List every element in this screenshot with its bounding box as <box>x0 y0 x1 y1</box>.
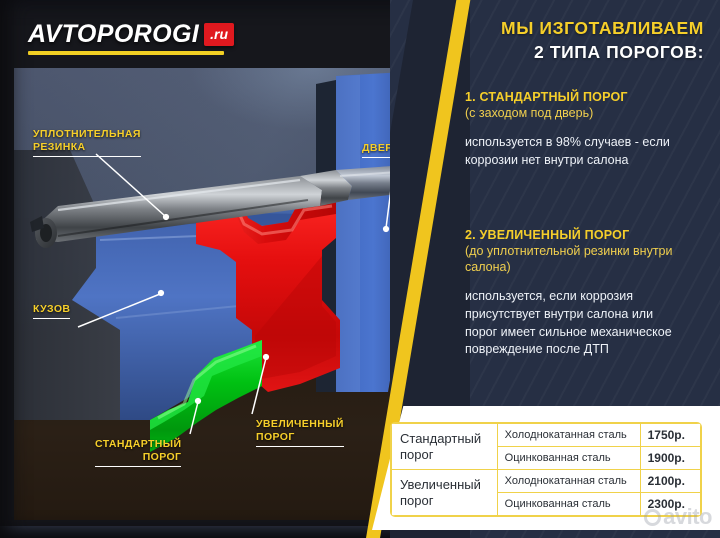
section-standard-body: используется в 98% случаев - если корроз… <box>465 134 680 170</box>
row-price: 2100р. <box>640 470 700 493</box>
callout-increased-line1: УВЕЛИЧЕННЫЙ <box>256 418 344 430</box>
callout-seal-line2: РЕЗИНКА <box>33 141 141 157</box>
callout-increased-sill: УВЕЛИЧЕННЫЙ ПОРОГ <box>256 418 344 447</box>
row-price: 1900р. <box>640 447 700 470</box>
row-material: Оцинкованная сталь <box>497 447 640 470</box>
callout-standard-line2: ПОРОГ <box>95 451 181 467</box>
callout-increased-line2: ПОРОГ <box>256 431 344 447</box>
row-price: 2300р. <box>640 493 700 516</box>
section-standard-title: 1. СТАНДАРТНЫЙ ПОРОГ <box>465 90 680 104</box>
callout-seal: УПЛОТНИТЕЛЬНАЯ РЕЗИНКА <box>33 128 141 157</box>
callout-standard-sill: СТАНДАРТНЫЙ ПОРОГ <box>95 438 181 467</box>
panel-heading: МЫ ИЗГОТАВЛИВАЕМ 2 ТИПА ПОРОГОВ: <box>390 18 704 63</box>
logo-domain-badge: .ru <box>204 23 234 46</box>
section-increased-title: 2. УВЕЛИЧЕННЫЙ ПОРОГ <box>465 228 680 242</box>
price-table: Стандартный порог Холоднокатанная сталь … <box>390 422 702 517</box>
row-price: 1750р. <box>640 424 700 447</box>
logo-underline-bar <box>28 51 224 55</box>
section-increased-subtitle: (до уплотнительной резинки внутри салона… <box>465 243 680 275</box>
table-row: Увеличенный порог Холоднокатанная сталь … <box>392 470 701 493</box>
section-increased: 2. УВЕЛИЧЕННЫЙ ПОРОГ (до уплотнительной … <box>465 228 680 359</box>
row-type-increased: Увеличенный порог <box>392 470 498 516</box>
row-material: Оцинкованная сталь <box>497 493 640 516</box>
logo-row: AVTOPOROGI .ru <box>28 20 234 49</box>
section-increased-body: используется, если коррозия присутствует… <box>465 288 680 359</box>
infographic-canvas: УПЛОТНИТЕЛЬНАЯ РЕЗИНКА ДВЕРЬ КУЗОВ СТАНД… <box>0 0 720 538</box>
row-material: Холоднокатанная сталь <box>497 470 640 493</box>
section-standard-subtitle: (с заходом под дверь) <box>465 105 680 121</box>
row-type-standard: Стандартный порог <box>392 424 498 470</box>
heading-line-1: МЫ ИЗГОТАВЛИВАЕМ <box>390 18 704 39</box>
callout-body-line1: КУЗОВ <box>33 303 70 319</box>
callout-seal-line1: УПЛОТНИТЕЛЬНАЯ <box>33 128 141 140</box>
logo-wordmark: AVTOPOROGI <box>28 20 199 49</box>
row-material: Холоднокатанная сталь <box>497 424 640 447</box>
heading-line-2: 2 ТИПА ПОРОГОВ: <box>390 42 704 63</box>
section-standard: 1. СТАНДАРТНЫЙ ПОРОГ (с заходом под двер… <box>465 90 680 170</box>
callout-body: КУЗОВ <box>33 303 70 319</box>
table-row: Стандартный порог Холоднокатанная сталь … <box>392 424 701 447</box>
brand-logo[interactable]: AVTOPOROGI .ru <box>28 20 234 55</box>
callout-standard-line1: СТАНДАРТНЫЙ <box>95 438 181 450</box>
price-table-grid: Стандартный порог Холоднокатанная сталь … <box>391 423 701 516</box>
